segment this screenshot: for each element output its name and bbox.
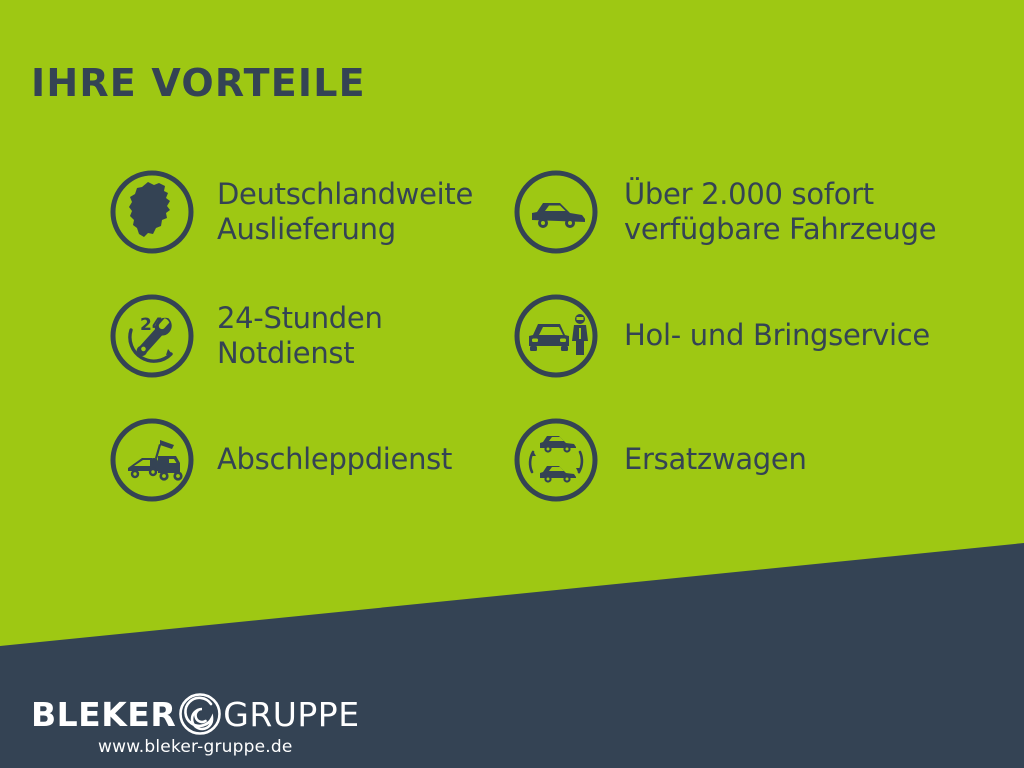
footer-logo[interactable]: BLEKER GRUPPE www.bleker-gruppe.de bbox=[31, 694, 360, 757]
benefit-label: Abschleppdienst bbox=[217, 442, 452, 477]
benefit-item-hol-und-bringservice[interactable]: Hol- und Bringservice bbox=[512, 274, 952, 398]
benefit-label: Ersatzwagen bbox=[624, 442, 807, 477]
benefit-item-deutschlandweite-auslieferung[interactable]: Deutschlandweite Auslieferung bbox=[108, 150, 508, 274]
two-cars-swap-icon bbox=[512, 416, 600, 504]
benefit-item-24-stunden-notdienst[interactable]: 24 24-Stunden Notdienst bbox=[108, 274, 508, 398]
logo-url[interactable]: www.bleker-gruppe.de bbox=[98, 737, 293, 757]
benefit-label: Hol- und Bringservice bbox=[624, 318, 930, 353]
benefit-item-verfuegbare-fahrzeuge[interactable]: Über 2.000 sofort verfügbare Fahrzeuge bbox=[512, 150, 952, 274]
spiral-icon bbox=[178, 692, 222, 736]
germany-map-icon bbox=[108, 168, 196, 256]
page-title: IHRE VORTEILE bbox=[31, 64, 366, 102]
car-side-icon bbox=[512, 168, 600, 256]
tow-truck-icon bbox=[108, 416, 196, 504]
benefit-item-abschleppdienst[interactable]: Abschleppdienst bbox=[108, 398, 508, 522]
car-with-person-icon bbox=[512, 292, 600, 380]
logo-word-bleker: BLEKER bbox=[31, 698, 176, 731]
benefit-item-ersatzwagen[interactable]: Ersatzwagen bbox=[512, 398, 952, 522]
slide-canvas: IHRE VORTEILE Deutschlandweite Ausliefer… bbox=[0, 0, 1024, 768]
logo-word-gruppe: GRUPPE bbox=[223, 698, 359, 731]
benefit-label: 24-Stunden Notdienst bbox=[217, 301, 383, 372]
benefit-label: Deutschlandweite Auslieferung bbox=[217, 177, 473, 248]
benefits-column-right: Über 2.000 sofort verfügbare Fahrzeuge bbox=[512, 150, 952, 522]
benefits-column-left: Deutschlandweite Auslieferung 24 bbox=[108, 150, 508, 522]
logo-wordmark: BLEKER GRUPPE bbox=[31, 694, 360, 734]
24-hour-wrench-icon: 24 bbox=[108, 292, 196, 380]
benefit-label: Über 2.000 sofort verfügbare Fahrzeuge bbox=[624, 177, 936, 248]
